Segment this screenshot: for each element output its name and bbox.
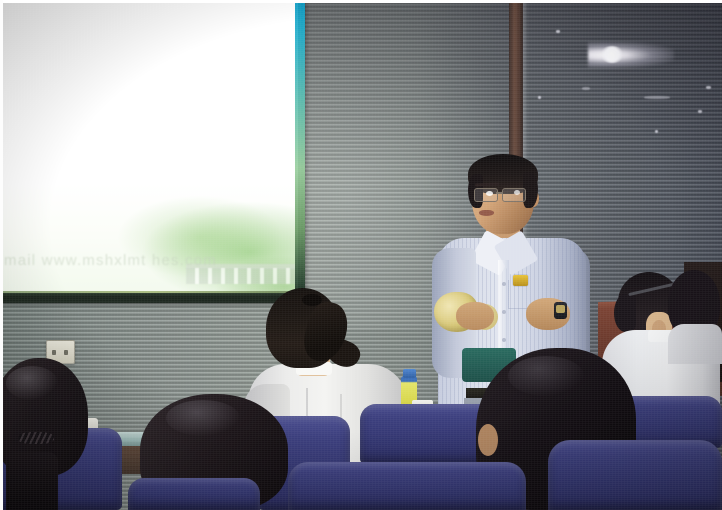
eyeglasses-icon bbox=[473, 188, 533, 201]
lecture-hall-photograph: mail www.mshxlmt hes.com bbox=[0, 0, 722, 510]
hair-tie-icon bbox=[302, 294, 322, 306]
screen-right-edge-gradient bbox=[295, 0, 305, 300]
wall-speck bbox=[538, 96, 541, 99]
watch-face bbox=[556, 305, 565, 313]
shirt-button bbox=[502, 310, 506, 314]
socket-hole bbox=[64, 350, 68, 355]
image-left-border bbox=[0, 0, 3, 510]
hair-sheen bbox=[508, 356, 584, 396]
hair-tie-icon bbox=[18, 432, 54, 444]
shirt-button bbox=[502, 282, 506, 286]
audience-member-far-right bbox=[668, 258, 722, 358]
bottle-cap bbox=[403, 369, 416, 378]
wall-speck bbox=[698, 110, 702, 113]
lens-glint bbox=[486, 191, 493, 196]
hand-left bbox=[456, 302, 494, 330]
mouth bbox=[479, 210, 494, 216]
projected-text: mail www.mshxlmt hes.com bbox=[4, 252, 254, 269]
projection-screen-surface: mail www.mshxlmt hes.com bbox=[0, 2, 298, 295]
wall-speck bbox=[556, 30, 560, 33]
auditorium-seat bbox=[128, 478, 260, 510]
hair-side bbox=[614, 294, 636, 332]
wall-scuff bbox=[644, 96, 670, 99]
auditorium-seat bbox=[548, 440, 722, 510]
lens-glint bbox=[514, 190, 520, 195]
ear bbox=[478, 424, 498, 456]
ceiling-light-core bbox=[600, 46, 624, 63]
lapel-pin-badge bbox=[513, 275, 528, 286]
image-top-border bbox=[0, 0, 722, 3]
projected-building bbox=[186, 268, 298, 284]
wall-scuff bbox=[582, 87, 590, 90]
hair-sheen bbox=[6, 366, 58, 400]
wall-speck bbox=[655, 130, 658, 133]
shirt-button bbox=[502, 338, 506, 342]
neck-and-shoulders bbox=[6, 452, 58, 510]
shirt-torso bbox=[668, 324, 722, 364]
auditorium-seat bbox=[288, 462, 526, 510]
wall-speck bbox=[706, 86, 711, 89]
socket-hole bbox=[52, 350, 56, 355]
hair-sheen bbox=[166, 400, 240, 436]
glasses-bridge bbox=[496, 192, 503, 194]
